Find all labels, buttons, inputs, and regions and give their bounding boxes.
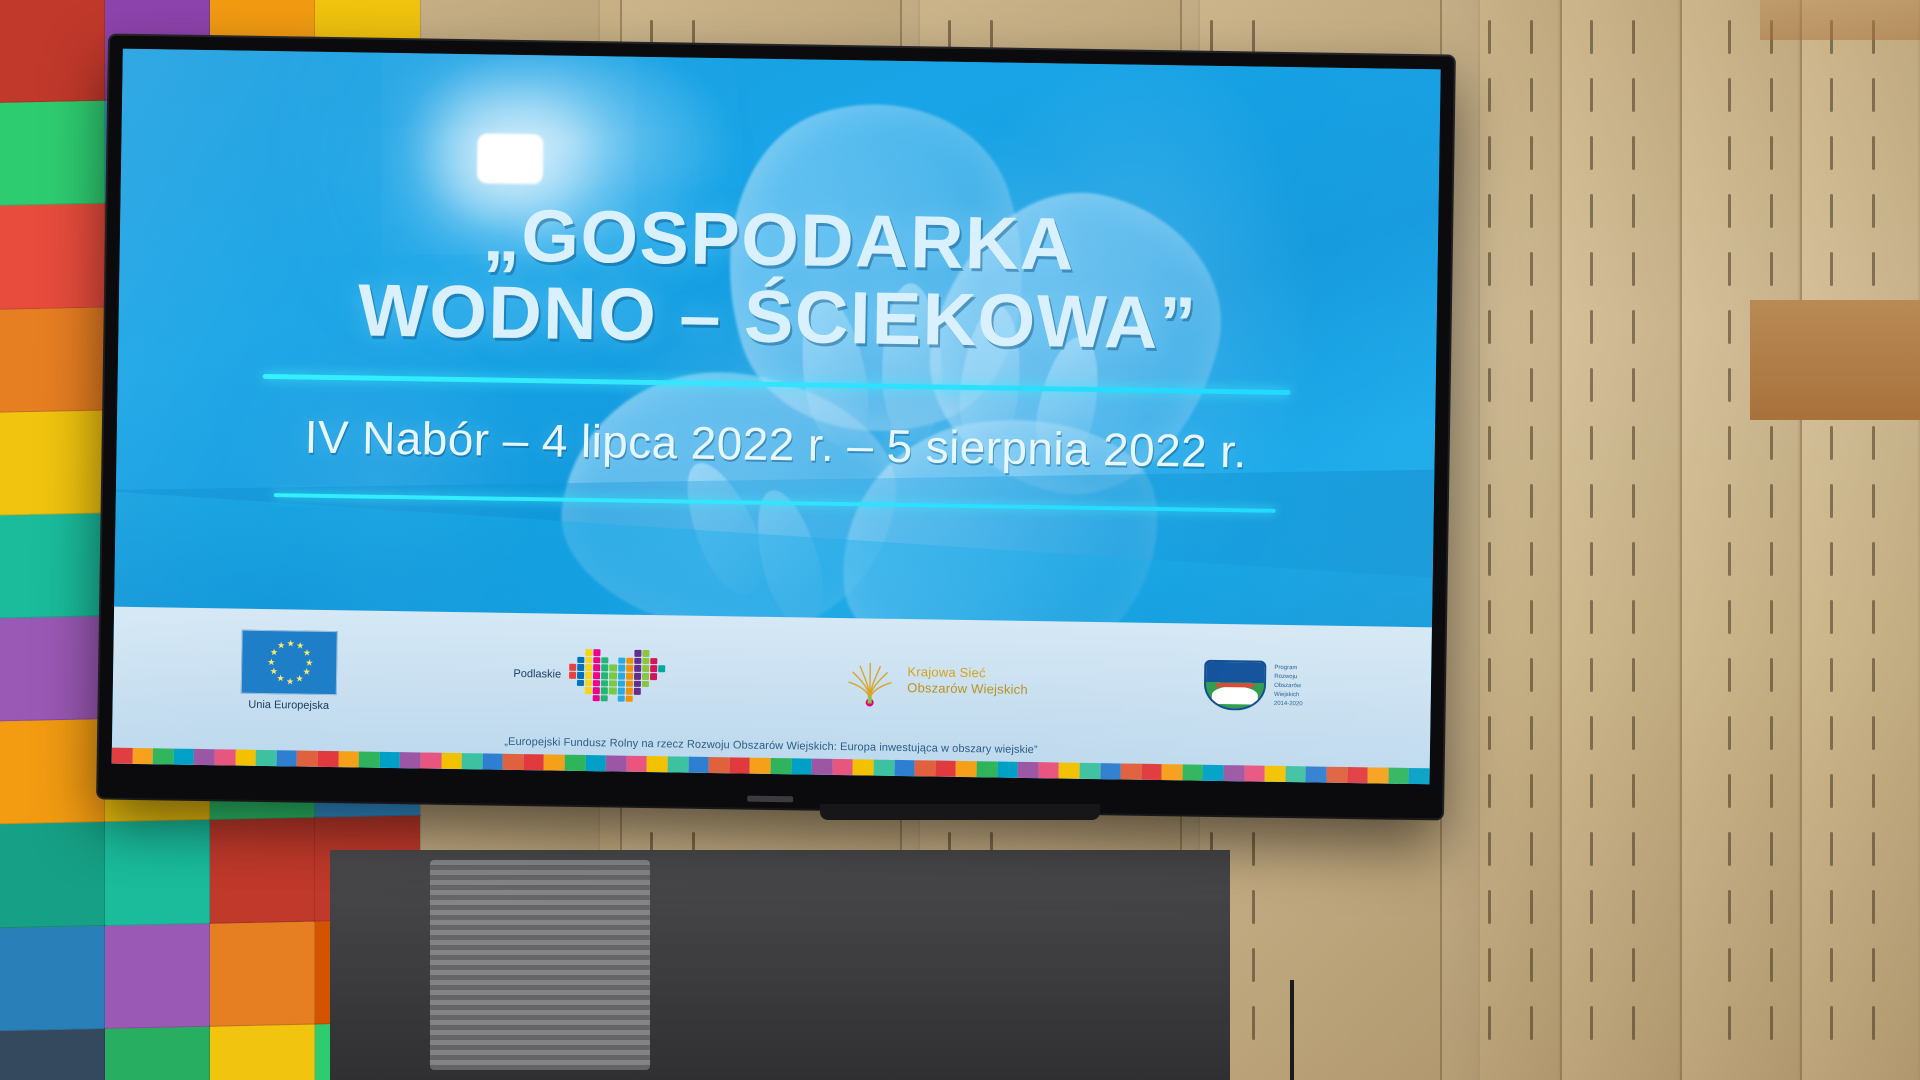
panel-slit xyxy=(1530,600,1533,634)
panel-slit xyxy=(1632,774,1635,808)
panel-slit xyxy=(1590,78,1593,112)
panel-slit xyxy=(1252,948,1255,982)
crest-bar-shape xyxy=(1216,683,1254,688)
wall-tile xyxy=(0,823,105,928)
colorbar-segment xyxy=(585,755,606,771)
panel-slit xyxy=(1530,658,1533,692)
panel-slit xyxy=(1488,1006,1491,1040)
colorbar-segment xyxy=(1079,763,1100,779)
panel-slit xyxy=(1252,1006,1255,1040)
panel-slit xyxy=(1632,252,1635,286)
panel-slit xyxy=(1590,1006,1593,1040)
colorbar-segment xyxy=(1121,763,1142,779)
panel-slit xyxy=(1632,1006,1635,1040)
colorbar-segment xyxy=(771,758,792,774)
panel-slit xyxy=(1488,78,1491,112)
mosaic-tile xyxy=(594,657,601,664)
mosaic-tile xyxy=(586,649,593,656)
mosaic-tile xyxy=(650,650,657,657)
colorbar-segment xyxy=(668,756,689,772)
colorbar-segment xyxy=(338,751,359,767)
panel-slit xyxy=(1488,774,1491,808)
mosaic-tile xyxy=(642,681,649,688)
mosaic-tile xyxy=(625,688,632,695)
mosaic-tile xyxy=(618,650,625,657)
eu-flag-logo: ★★★★★★★★★★★★ Unia Europejska xyxy=(241,629,338,711)
panel-slit xyxy=(1632,136,1635,170)
wall-tile xyxy=(105,923,210,1028)
colorbar-segment xyxy=(1038,762,1059,778)
prow-mark-row: ProgramRozwojuObszarówWiejskich2014-2020 xyxy=(1204,660,1303,712)
panel-slit xyxy=(1488,194,1491,228)
colorbar-segment xyxy=(709,757,730,773)
wall-warm-strip xyxy=(1750,300,1920,420)
mosaic-tile xyxy=(617,688,624,695)
mosaic-tile xyxy=(585,687,592,694)
panel-slit xyxy=(1632,194,1635,228)
wall-tile xyxy=(210,1024,315,1080)
mosaic-tile xyxy=(642,650,649,657)
mosaic-tile xyxy=(577,680,584,687)
panel-slit xyxy=(1530,368,1533,402)
mosaic-tile xyxy=(634,665,641,672)
mosaic-tile xyxy=(634,680,641,687)
panel-slit xyxy=(1530,194,1533,228)
eu-star-icon: ★ xyxy=(287,639,295,648)
mosaic-tile xyxy=(601,695,608,702)
panel-slit xyxy=(1770,832,1773,866)
panel-slit xyxy=(1210,20,1213,54)
wall-tile xyxy=(0,1029,105,1080)
panel-slit xyxy=(1830,426,1833,460)
mosaic-tile xyxy=(634,650,641,657)
colorbar-segment xyxy=(523,754,544,770)
wood-panel-column xyxy=(1800,0,1920,1080)
mosaic-tile xyxy=(593,695,600,702)
panel-slit xyxy=(1872,136,1875,170)
mosaic-tile xyxy=(593,665,600,672)
colorbar-segment xyxy=(832,759,853,775)
panel-slit xyxy=(1830,484,1833,518)
panel-slit xyxy=(1872,542,1875,576)
mosaic-tile xyxy=(642,665,649,672)
panel-slit xyxy=(1872,948,1875,982)
eu-star-icon: ★ xyxy=(267,658,275,667)
panel-slit xyxy=(1728,890,1731,924)
panel-slit xyxy=(1728,716,1731,750)
panel-slit xyxy=(1488,658,1491,692)
panel-slit xyxy=(1770,426,1773,460)
mosaic-tile xyxy=(569,687,576,694)
mosaic-tile xyxy=(658,658,665,665)
panel-slit xyxy=(1252,832,1255,866)
panel-slit xyxy=(1530,252,1533,286)
mosaic-tile xyxy=(618,665,625,672)
panel-slit xyxy=(1590,658,1593,692)
mosaic-tile xyxy=(650,681,657,688)
mosaic-tile xyxy=(658,651,665,658)
mosaic-tile xyxy=(593,687,600,694)
eu-star-icon: ★ xyxy=(277,674,285,683)
panel-slit xyxy=(1830,194,1833,228)
prow-crest-logo: ProgramRozwojuObszarówWiejskich2014-2020 xyxy=(1204,660,1303,712)
panel-slit xyxy=(1830,658,1833,692)
panel-slit xyxy=(1632,948,1635,982)
slide-footer: ★★★★★★★★★★★★ Unia Europejska Podlaskie xyxy=(112,606,1432,784)
panel-slit xyxy=(1530,20,1533,54)
panel-slit xyxy=(1728,20,1731,54)
panel-slit xyxy=(1830,252,1833,286)
panel-slit xyxy=(1530,890,1533,924)
panel-slit xyxy=(1590,368,1593,402)
prow-label-lines: ProgramRozwojuObszarówWiejskich2014-2020 xyxy=(1274,664,1303,709)
colorbar-segment xyxy=(1182,764,1203,780)
ksow-logo: Krajowa Sieć Obszarów Wiejskich xyxy=(841,652,1028,709)
mosaic-tile xyxy=(633,688,640,695)
panel-slit xyxy=(1830,716,1833,750)
colorbar-segment xyxy=(503,754,524,770)
mosaic-tile xyxy=(609,680,616,687)
panel-slit xyxy=(1632,426,1635,460)
mosaic-tile xyxy=(658,696,665,703)
mosaic-tile xyxy=(569,649,576,656)
colorbar-segment xyxy=(1141,764,1162,780)
mosaic-tile xyxy=(610,657,617,664)
colorbar-segment xyxy=(1224,765,1245,781)
ksow-label-line1: Krajowa Sieć xyxy=(907,664,1028,682)
mosaic-tile xyxy=(609,672,616,679)
panel-slit xyxy=(1770,78,1773,112)
mosaic-tile xyxy=(601,672,608,679)
panel-slit xyxy=(1872,78,1875,112)
panel-slit xyxy=(1830,542,1833,576)
panel-slit xyxy=(1872,890,1875,924)
mosaic-tile xyxy=(577,657,584,664)
wall-tile xyxy=(0,204,105,309)
mosaic-tile xyxy=(650,696,657,703)
panel-slit xyxy=(1872,194,1875,228)
colorbar-segment xyxy=(647,756,668,772)
mosaic-tile xyxy=(642,658,649,665)
colorbar-segment xyxy=(565,755,586,771)
mosaic-tile xyxy=(601,687,608,694)
eu-star-icon: ★ xyxy=(303,668,311,677)
panel-slit xyxy=(1590,310,1593,344)
colorbar-segment xyxy=(420,752,441,768)
panel-slit xyxy=(1632,310,1635,344)
mosaic-tile xyxy=(577,695,584,702)
title-divider-line xyxy=(263,374,1291,395)
colorbar-segment xyxy=(400,752,421,768)
panel-slit xyxy=(1530,948,1533,982)
mosaic-tile xyxy=(601,680,608,687)
mosaic-tile xyxy=(658,666,665,673)
panel-slit xyxy=(1770,716,1773,750)
panel-slit xyxy=(1530,774,1533,808)
colorbar-segment xyxy=(1409,768,1430,784)
colorbar-segment xyxy=(1368,767,1389,783)
mosaic-tile xyxy=(569,679,576,686)
mosaic-tile xyxy=(626,650,633,657)
panel-slit xyxy=(1488,136,1491,170)
colorbar-segment xyxy=(729,757,750,773)
mosaic-tile xyxy=(569,657,576,664)
panel-slit xyxy=(1530,78,1533,112)
mosaic-tile xyxy=(585,657,592,664)
panel-slit xyxy=(1530,716,1533,750)
panel-slit xyxy=(1590,20,1593,54)
panel-slit xyxy=(1728,1006,1731,1040)
panel-slit xyxy=(1830,78,1833,112)
colorbar-segment xyxy=(894,760,915,776)
panel-slit xyxy=(1632,890,1635,924)
mosaic-tile xyxy=(626,665,633,672)
panel-slit xyxy=(1590,716,1593,750)
colorbar-segment xyxy=(132,748,153,764)
mosaic-tile xyxy=(626,680,633,687)
colorbar-segment xyxy=(153,748,174,764)
mosaic-tile xyxy=(585,695,592,702)
colorbar-segment xyxy=(956,761,977,777)
wall-tile xyxy=(0,616,105,721)
panel-slit xyxy=(1590,542,1593,576)
panel-slit xyxy=(1590,484,1593,518)
wall-tile xyxy=(0,410,105,515)
panel-slit xyxy=(1590,832,1593,866)
prow-label-line: Rozwoju xyxy=(1274,673,1303,682)
slide-subtitle: IV Nabór – 4 lipca 2022 r. – 5 sierpnia … xyxy=(116,407,1435,482)
mosaic-tile xyxy=(569,672,576,679)
mosaic-tile xyxy=(634,658,641,665)
television-bezel: „GOSPODARKA WODNO – ŚCIEKOWA” IV Nabór –… xyxy=(98,35,1454,818)
panel-slit xyxy=(1872,716,1875,750)
panel-slit xyxy=(1728,832,1731,866)
panel-slit xyxy=(1830,774,1833,808)
mosaic-tile xyxy=(610,665,617,672)
panel-slit xyxy=(1728,948,1731,982)
panel-slit xyxy=(1488,20,1491,54)
panel-slit xyxy=(1590,136,1593,170)
mosaic-tile xyxy=(617,695,624,702)
colorbar-segment xyxy=(1203,765,1224,781)
colorbar-segment xyxy=(482,753,503,769)
colorbar-segment xyxy=(235,750,256,766)
panel-slit xyxy=(1632,542,1635,576)
podlaskie-label: Podlaskie xyxy=(513,668,561,681)
mosaic-tile xyxy=(626,673,633,680)
colorbar-segment xyxy=(1306,766,1327,782)
panel-slit xyxy=(1632,832,1635,866)
power-cable xyxy=(1290,980,1410,1080)
eu-flag-icon: ★★★★★★★★★★★★ xyxy=(241,629,338,695)
colorbar-segment xyxy=(256,750,277,766)
panel-slit xyxy=(1590,774,1593,808)
panel-slit xyxy=(1252,20,1255,54)
wall-tile xyxy=(0,513,105,618)
screen-glare xyxy=(477,133,544,184)
colorbar-segment xyxy=(853,759,874,775)
panel-slit xyxy=(1830,948,1833,982)
mosaic-tile xyxy=(585,665,592,672)
panel-slit xyxy=(1770,194,1773,228)
colorbar-segment xyxy=(462,753,483,769)
panel-slit xyxy=(1488,890,1491,924)
panel-slit xyxy=(1590,948,1593,982)
colorbar-segment xyxy=(1285,766,1306,782)
colorbar-segment xyxy=(1100,763,1121,779)
colorbar-segment xyxy=(1059,762,1080,778)
eu-star-icon: ★ xyxy=(296,675,304,684)
colorbar-segment xyxy=(606,755,627,771)
mosaic-tile xyxy=(578,649,585,656)
mosaic-tile xyxy=(569,664,576,671)
podlaskie-mosaic-icon xyxy=(569,649,666,703)
podlaskie-logo: Podlaskie xyxy=(513,648,666,702)
eu-star-icon: ★ xyxy=(270,667,278,676)
wall-tile xyxy=(0,926,105,1031)
panel-slit xyxy=(1770,890,1773,924)
mosaic-tile xyxy=(609,688,616,695)
mosaic-tile xyxy=(633,696,640,703)
panel-slit xyxy=(1530,426,1533,460)
panel-slit xyxy=(1872,832,1875,866)
colorbar-segment xyxy=(1244,765,1265,781)
panel-slit xyxy=(1488,832,1491,866)
panel-slit xyxy=(1770,136,1773,170)
eu-star-icon: ★ xyxy=(286,677,294,686)
eu-star-icon: ★ xyxy=(277,642,285,651)
panel-slit xyxy=(1872,600,1875,634)
mosaic-tile xyxy=(618,657,625,664)
colorbar-segment xyxy=(194,749,215,765)
panel-slit xyxy=(1590,252,1593,286)
wall-tile xyxy=(105,1027,210,1080)
colorbar-segment xyxy=(997,762,1018,778)
panel-slit xyxy=(1488,368,1491,402)
colorbar-segment xyxy=(1162,764,1183,780)
panel-slit xyxy=(1728,426,1731,460)
wall-tile xyxy=(0,307,105,412)
panel-slit xyxy=(1728,368,1731,402)
mosaic-tile xyxy=(642,673,649,680)
colorbar-segment xyxy=(750,758,771,774)
panel-slit xyxy=(1728,252,1731,286)
slide-title-block: „GOSPODARKA WODNO – ŚCIEKOWA” IV Nabór –… xyxy=(116,192,1439,516)
wall-tile xyxy=(0,0,105,103)
mosaic-tile xyxy=(650,688,657,695)
tv-brand-logo xyxy=(747,796,793,803)
panel-slit xyxy=(1530,310,1533,344)
mosaic-tile xyxy=(602,657,609,664)
colorbar-segment xyxy=(215,749,236,765)
panel-slit xyxy=(1728,600,1731,634)
wall-tile xyxy=(105,820,210,925)
panel-slit xyxy=(1530,832,1533,866)
panel-slit xyxy=(1530,542,1533,576)
panel-slit xyxy=(1530,484,1533,518)
colorbar-segment xyxy=(1018,762,1039,778)
wall-tile xyxy=(210,818,315,923)
ksow-text-block: Krajowa Sieć Obszarów Wiejskich xyxy=(907,664,1028,698)
mosaic-tile xyxy=(626,658,633,665)
colorbar-segment xyxy=(791,758,812,774)
panel-slit xyxy=(1770,252,1773,286)
wood-panel-column xyxy=(1680,0,1800,1080)
wall-tile xyxy=(0,101,105,206)
television-screen: „GOSPODARKA WODNO – ŚCIEKOWA” IV Nabór –… xyxy=(112,49,1441,785)
colorbar-segment xyxy=(812,759,833,775)
colorbar-segment xyxy=(359,751,380,767)
panel-slit xyxy=(1770,658,1773,692)
panel-slit xyxy=(1530,1006,1533,1040)
panel-slit xyxy=(1770,600,1773,634)
eu-flag-label: Unia Europejska xyxy=(248,699,329,712)
colorbar-segment xyxy=(976,761,997,777)
panel-slit xyxy=(1590,600,1593,634)
colorbar-segment xyxy=(318,751,339,767)
panel-slit xyxy=(1488,542,1491,576)
ksow-mark-row: Krajowa Sieć Obszarów Wiejskich xyxy=(841,652,1028,709)
panel-slit xyxy=(1830,600,1833,634)
mosaic-tile xyxy=(594,650,601,657)
colorbar-segment xyxy=(874,760,895,776)
mosaic-tile xyxy=(641,696,648,703)
colorbar-segment xyxy=(915,760,936,776)
panel-slit xyxy=(1632,600,1635,634)
panel-slit xyxy=(1632,368,1635,402)
panel-slit xyxy=(1770,542,1773,576)
panel-slit xyxy=(1488,310,1491,344)
photo-scene: „GOSPODARKA WODNO – ŚCIEKOWA” IV Nabór –… xyxy=(0,0,1920,1080)
panel-slit xyxy=(1632,78,1635,112)
colorbar-segment xyxy=(1347,767,1368,783)
ksow-plant-icon xyxy=(841,652,900,707)
panel-slit xyxy=(1488,252,1491,286)
prow-label-line: Wiejskich xyxy=(1274,691,1303,700)
panel-slit xyxy=(1488,716,1491,750)
panel-slit xyxy=(1728,542,1731,576)
colorbar-segment xyxy=(441,753,462,769)
panel-slit xyxy=(1632,20,1635,54)
crest-hill-shape xyxy=(1212,686,1258,705)
mosaic-tile xyxy=(658,688,665,695)
mosaic-tile xyxy=(658,673,665,680)
wall-tile xyxy=(210,921,315,1026)
podlaskie-mark: Podlaskie xyxy=(513,648,666,702)
colorbar-segment xyxy=(297,751,318,767)
mosaic-tile xyxy=(617,680,624,687)
panel-slit xyxy=(1830,832,1833,866)
mosaic-tile xyxy=(585,680,592,687)
panel-slit xyxy=(1872,774,1875,808)
floor-vent xyxy=(430,860,650,1070)
colorbar-segment xyxy=(1327,767,1348,783)
mosaic-tile xyxy=(593,672,600,679)
colorbar-segment xyxy=(379,752,400,768)
colorbar-segment xyxy=(544,754,565,770)
colorbar-segment xyxy=(1388,768,1409,784)
mosaic-tile xyxy=(634,673,641,680)
panel-slit xyxy=(1252,890,1255,924)
panel-slit xyxy=(1830,890,1833,924)
presentation-slide: „GOSPODARKA WODNO – ŚCIEKOWA” IV Nabór –… xyxy=(112,49,1441,785)
wood-panel-column xyxy=(1440,0,1560,1080)
panel-slit xyxy=(1488,948,1491,982)
panel-slit xyxy=(1728,658,1731,692)
wood-panel-column xyxy=(1560,0,1680,1080)
slide-title: „GOSPODARKA WODNO – ŚCIEKOWA” xyxy=(118,192,1438,367)
panel-slit xyxy=(1872,252,1875,286)
